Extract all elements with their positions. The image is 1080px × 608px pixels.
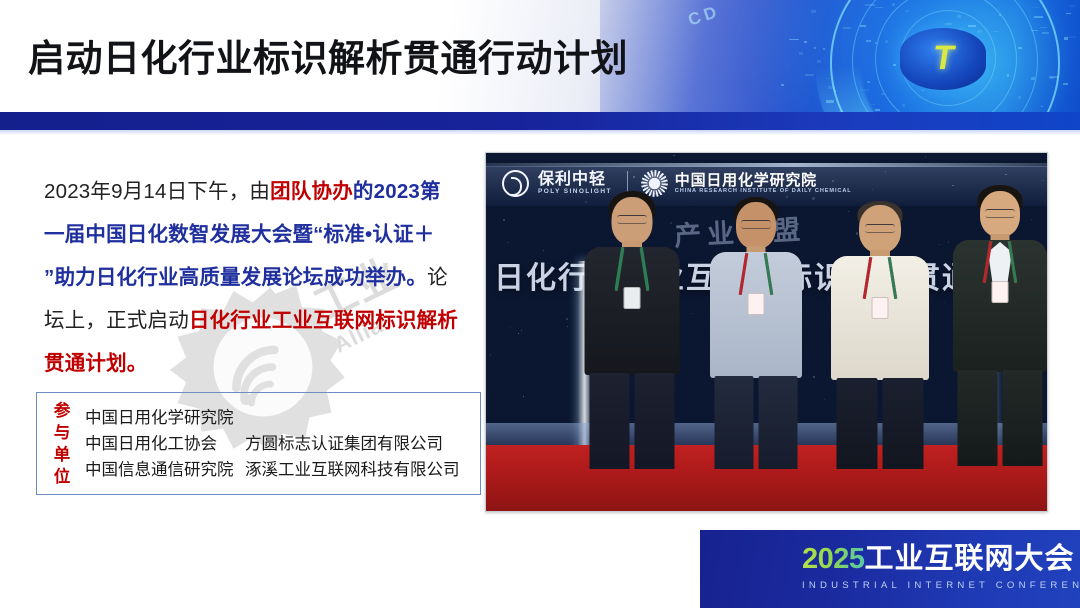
body-line-2: 一届中国日化数智发展大会暨“标准•认证＋ [44, 213, 464, 256]
body-line1-a: 2023年9月14日下午，由 [44, 180, 270, 203]
body-line1-highlight-blue: 2023第 [374, 180, 441, 203]
sponsor-one-cn: 保利中轻 [538, 172, 612, 189]
participant-right-1: 涿溪工业互联网科技有限公司 [245, 457, 460, 483]
lanyard-4 [980, 241, 1020, 287]
sponsor-two-en: CHINA RESEARCH INSTITUTE OF DAILY CHEMIC… [675, 188, 852, 194]
participants-label-char-1: 与 [51, 422, 73, 444]
participants-column-left: 中国日用化学研究院中国日用化工协会中国信息通信研究院 [85, 405, 234, 483]
conference-year: 2025 [802, 543, 865, 575]
body-line3-b: 论 [427, 266, 448, 289]
conference-name-en: INDUSTRIAL INTERNET CONFERENCE [802, 581, 1080, 591]
body-line4-a: 坛上，正式启动 [44, 309, 189, 332]
participants-label-char-3: 位 [51, 466, 73, 488]
lanyard-2 [736, 253, 776, 299]
badge-4 [992, 281, 1009, 303]
header-bar-shadow [0, 130, 1080, 135]
body-line4-highlight-red: 日化行业工业互联网标识解析 [189, 309, 458, 332]
sponsor-two-cn: 中国日用化学研究院 [675, 173, 852, 189]
event-photo: 保利中轻 POLY SINOLIGHT 中国日用化学研究院 CHINA RESE… [485, 152, 1048, 512]
person-1: .person:nth-of-type(1) [578, 191, 686, 469]
participants-label: 参与单位 [51, 400, 73, 488]
slide-root: CD T 启动日化行业标识解析贯通行动计划 工业 Allia [0, 0, 1080, 608]
tech-t-logo-icon: T [919, 36, 970, 80]
participant-left-2: 中国信息通信研究院 [85, 457, 234, 483]
page-title: 启动日化行业标识解析贯通行动计划 [28, 30, 728, 88]
body-paragraph: 2023年9月14日下午，由团队协办的2023第 一届中国日化数智发展大会暨“标… [44, 170, 464, 385]
participants-label-char-0: 参 [51, 400, 73, 422]
participants-label-char-2: 单 [51, 444, 73, 466]
conference-name-cn: 工业互联网大会 [865, 543, 1075, 575]
participants-column-right: 方圆标志认证集团有限公司涿溪工业互联网科技有限公司 [245, 431, 460, 483]
poly-sinolight-icon [502, 170, 529, 197]
body-line2-text: 一届中国日化数智发展大会暨“标准•认证＋ [44, 223, 434, 246]
conference-logo: 2025工业互联网大会 INDUSTRIAL INTERNET CONFEREN… [802, 545, 1080, 591]
person-4 [948, 185, 1048, 469]
body-line5-text: 贯通计划。 [44, 352, 148, 375]
badge-1 [624, 287, 641, 309]
badge-2 [748, 293, 765, 315]
lanyard-1 [612, 247, 652, 293]
sponsor-two: 中国日用化学研究院 CHINA RESEARCH INSTITUTE OF DA… [675, 173, 852, 195]
person-3 [826, 201, 934, 469]
body-line-5: 贯通计划。 [44, 342, 464, 385]
participants-box: 参与单位 中国日用化学研究院中国日用化工协会中国信息通信研究院 方圆标志认证集团… [36, 392, 481, 495]
body-line-1: 2023年9月14日下午，由团队协办的2023第 [44, 170, 464, 213]
body-line-4: 坛上，正式启动日化行业工业互联网标识解析 [44, 299, 464, 342]
participant-right-0: 方圆标志认证集团有限公司 [245, 431, 460, 457]
participant-left-0: 中国日用化学研究院 [85, 405, 234, 431]
body-line1-c: 的 [353, 180, 374, 203]
participant-left-1: 中国日用化工协会 [85, 431, 234, 457]
body-line3-a: ”助力日化行业高质量发展论坛成功举办。 [44, 266, 427, 289]
body-line1-highlight-red: 团队协办 [270, 180, 353, 203]
lanyard-3 [860, 257, 900, 303]
person-2 [704, 197, 808, 469]
body-line-3: ”助力日化行业高质量发展论坛成功举办。论 [44, 256, 464, 299]
slide-header: CD T 启动日化行业标识解析贯通行动计划 [0, 0, 1080, 130]
badge-3 [872, 297, 889, 319]
header-blue-bar [0, 112, 1080, 130]
